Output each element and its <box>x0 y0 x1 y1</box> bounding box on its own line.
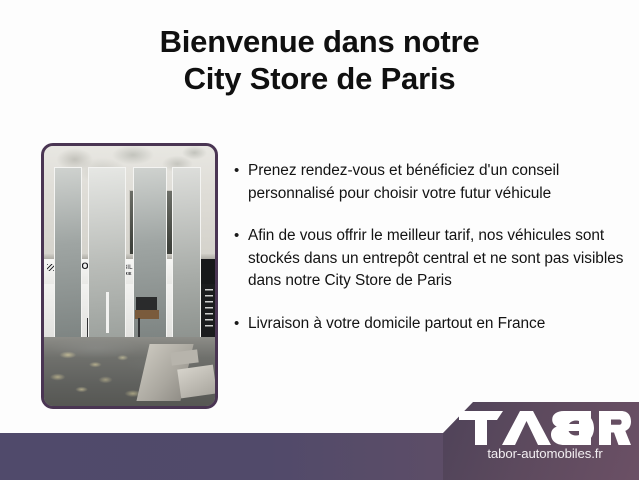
brand-logo: tabor-automobiles.fr <box>455 411 635 461</box>
shop-interior-shadow <box>136 297 157 310</box>
slide: Bienvenue dans notre City Store de Paris <box>0 0 639 480</box>
title-line-2: City Store de Paris <box>0 61 639 98</box>
bullet-marker-icon: • <box>234 225 248 248</box>
adjacent-shopfront-shutter <box>205 289 214 331</box>
brand-url: tabor-automobiles.fr <box>455 446 635 461</box>
tabor-logo-icon <box>459 411 631 445</box>
bullet-text: Prenez rendez-vous et bénéficiez d'un co… <box>248 160 626 205</box>
title-line-1: Bienvenue dans notre <box>0 24 639 61</box>
page-title: Bienvenue dans notre City Store de Paris <box>0 24 639 97</box>
bullet-marker-icon: • <box>234 160 248 183</box>
bullet-text: Afin de vous offrir le meilleur tarif, n… <box>248 225 626 293</box>
storefront-photo: TABORAUTOMOBILES CITY STORE PARIS <box>44 146 215 406</box>
bullet-marker-icon: • <box>234 313 248 336</box>
list-item: • Afin de vous offrir le meilleur tarif,… <box>234 225 626 293</box>
door-mullion <box>106 292 108 334</box>
bullet-list: • Prenez rendez-vous et bénéficiez d'un … <box>234 160 626 335</box>
pavement-slab <box>177 365 215 398</box>
storefront-photo-frame: TABORAUTOMOBILES CITY STORE PARIS <box>41 143 218 409</box>
bullet-text: Livraison à votre domicile partout en Fr… <box>248 313 626 336</box>
list-item: • Prenez rendez-vous et bénéficiez d'un … <box>234 160 626 205</box>
list-item: • Livraison à votre domicile partout en … <box>234 313 626 336</box>
